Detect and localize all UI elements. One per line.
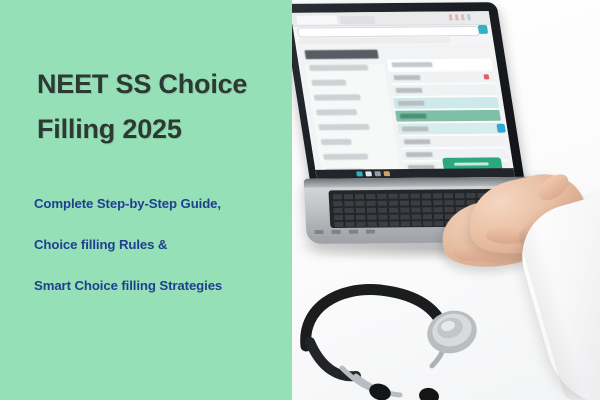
sidebar-row: [314, 94, 361, 100]
page-title: NEET SS Choice Filling 2025: [37, 62, 287, 152]
form-row: [387, 59, 493, 71]
browser-extension-icons: [449, 14, 474, 20]
sidebar-row: [309, 65, 369, 71]
page-subtitle: Complete Step-by-Step Guide, Choice fill…: [34, 196, 290, 293]
stethoscope: [292, 250, 552, 400]
info-chip: [496, 124, 505, 133]
promo-banner: NEET SS Choice Filling 2025 Complete Ste…: [0, 0, 600, 400]
browser-address-bar: [297, 26, 481, 37]
web-page-content: [296, 45, 515, 179]
form-row-highlighted: [393, 97, 499, 109]
laptop-lid: [292, 2, 527, 197]
form-row: [399, 136, 505, 148]
page-subtitle-line-1: Complete Step-by-Step Guide,: [34, 196, 290, 211]
site-heading: [305, 50, 379, 60]
laptop-ports: [314, 230, 375, 234]
browser-tab-active: [296, 15, 338, 24]
form-sidebar: [305, 64, 401, 174]
laptop-screen: [292, 11, 515, 179]
browser-profile-icon: [478, 25, 489, 34]
browser-bookmarks-bar: [299, 37, 452, 44]
taskbar-icon: [356, 171, 363, 176]
page-subtitle-line-2: Choice filling Rules &: [34, 237, 290, 252]
error-icon: [484, 74, 490, 79]
taskbar-icon: [374, 171, 381, 176]
form-body: [387, 59, 510, 176]
taskbar-icon: [365, 171, 372, 176]
form-row: [391, 84, 497, 96]
sidebar-row: [316, 109, 357, 115]
hero-photo: [292, 0, 600, 400]
sidebar-row: [311, 80, 346, 86]
page-title-line-2: Filling 2025: [37, 107, 287, 152]
form-row-highlighted: [397, 123, 503, 135]
browser-tab-inactive: [340, 16, 376, 24]
page-subtitle-line-3: Smart Choice filling Strategies: [34, 278, 290, 293]
green-text-panel: NEET SS Choice Filling 2025 Complete Ste…: [0, 0, 292, 400]
form-row: [389, 71, 495, 83]
page-title-line-1: NEET SS Choice: [37, 62, 287, 107]
taskbar-icon: [383, 171, 390, 176]
sidebar-row: [321, 139, 352, 145]
sidebar-row: [323, 154, 368, 160]
form-row-selected: [395, 110, 501, 122]
sidebar-row: [318, 124, 369, 130]
browser-chrome: [292, 11, 491, 27]
